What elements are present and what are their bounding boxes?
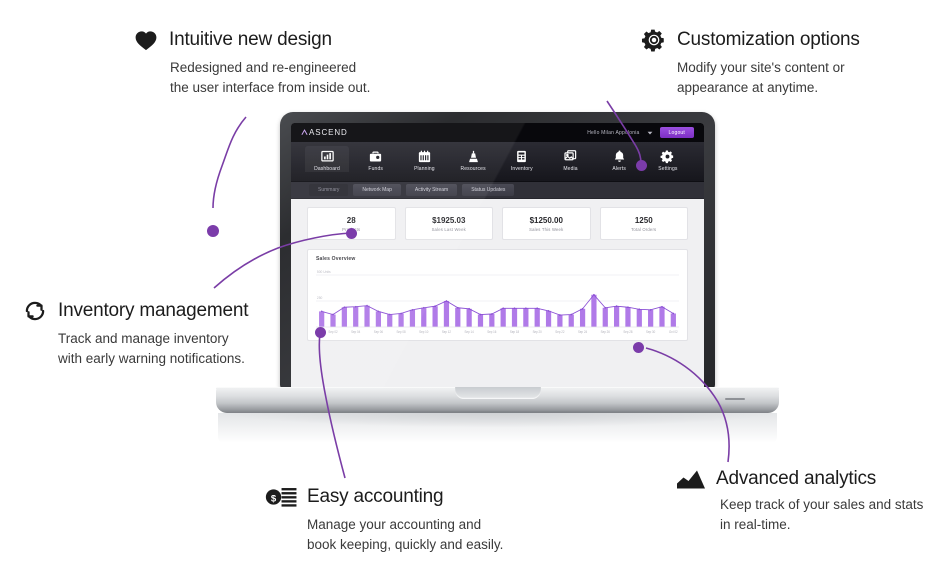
laptop-base-vent (725, 398, 745, 400)
feature-header: Customization options (641, 27, 860, 53)
tab-network-map[interactable]: Network Map (353, 184, 400, 196)
feature-title: Intuitive new design (169, 29, 332, 51)
laptop-base-notch (455, 387, 541, 399)
brand-text: ASCEND (309, 128, 348, 137)
logout-button[interactable]: Logout (660, 127, 695, 138)
nav-label: Dashboard (314, 166, 340, 172)
nav-label: Resources (460, 166, 485, 172)
stat-value: 1250 (635, 216, 653, 225)
nav-item-dashboard[interactable]: Dashboard (305, 146, 349, 172)
laptop-reflection (218, 413, 777, 443)
feature-inventory-management: Inventory management Track and manage in… (22, 298, 248, 368)
svg-text:Sep 10: Sep 10 (419, 330, 428, 334)
feature-description: Modify your site's content or appearance… (677, 58, 860, 97)
feature-intuitive-new-design: Intuitive new design Redesigned and re-e… (133, 27, 370, 97)
feature-description: Manage your accounting and book keeping,… (307, 515, 503, 554)
money-ledger-icon: $ (265, 484, 297, 510)
svg-text:Sep 02: Sep 02 (328, 330, 337, 334)
nav-item-alerts[interactable]: Alerts (597, 146, 641, 172)
svg-text:Sep 14: Sep 14 (465, 330, 474, 334)
nav-item-media[interactable]: Media (549, 146, 593, 172)
feature-easy-accounting: $ Easy accounting Manage your accounting… (265, 484, 503, 554)
gear-icon (641, 27, 667, 53)
feature-customization-options: Customization options Modify your site's… (641, 27, 860, 97)
feature-description: Keep track of your sales and stats in re… (720, 495, 923, 534)
svg-text:Sep 28: Sep 28 (623, 330, 632, 334)
stat-value: $1250.00 (530, 216, 563, 225)
svg-text:Sep 06: Sep 06 (374, 330, 383, 334)
feature-title: Customization options (677, 29, 860, 51)
feature-description: Redesigned and re-engineered the user in… (170, 58, 370, 97)
stat-card-total-orders[interactable]: 1250 Total Orders (600, 207, 689, 240)
nav-label: Funds (368, 166, 383, 172)
sales-overview-panel: Sales Overview 500 Units250Sep 02Sep 04S… (307, 249, 688, 341)
app-topbar: ASCEND Hello Milan Appolonia Logout (291, 123, 704, 142)
feature-header: Intuitive new design (133, 27, 370, 53)
sync-arrows-icon (22, 298, 48, 324)
heart-icon (133, 27, 159, 53)
svg-text:Oct 02: Oct 02 (669, 330, 678, 334)
bar-chart-up-icon (676, 468, 706, 490)
nav-label: Planning (414, 166, 435, 172)
chart-board-icon (320, 149, 335, 164)
topbar-user-area: Hello Milan Appolonia Logout (587, 127, 694, 138)
sales-chart-svg: 500 Units250Sep 02Sep 04Sep 06Sep 08Sep … (316, 269, 679, 341)
nav-label: Alerts (612, 166, 626, 172)
feature-header: Advanced analytics (676, 468, 923, 490)
feature-header: $ Easy accounting (265, 484, 503, 510)
svg-text:Sep 04: Sep 04 (351, 330, 360, 334)
connector-dot-customization (636, 160, 647, 171)
greeting-text: Hello Milan Appolonia (587, 130, 639, 136)
feature-description: Track and manage inventory with early wa… (58, 329, 248, 368)
briefcase-icon (368, 149, 383, 164)
laptop-base (216, 387, 779, 413)
ascend-mark-icon (301, 129, 308, 136)
gear-icon (660, 149, 675, 164)
laptop-mockup: ASCEND Hello Milan Appolonia Logout (216, 112, 779, 442)
feature-title: Advanced analytics (716, 468, 876, 490)
box-list-icon (514, 149, 529, 164)
svg-text:250: 250 (317, 296, 323, 300)
svg-text:500 Units: 500 Units (317, 270, 331, 274)
stat-value: 28 (347, 216, 356, 225)
calendar-icon (417, 149, 432, 164)
svg-text:Sep 24: Sep 24 (578, 330, 587, 334)
nav-label: Inventory (511, 166, 533, 172)
svg-text:Sep 12: Sep 12 (442, 330, 451, 334)
sales-chart: 500 Units250Sep 02Sep 04Sep 06Sep 08Sep … (316, 269, 679, 341)
chevron-down-icon[interactable] (647, 130, 653, 136)
svg-text:Sep 22: Sep 22 (555, 330, 564, 334)
stat-value: $1925.03 (432, 216, 465, 225)
brand-logo: ASCEND (301, 128, 348, 137)
svg-text:Sep 16: Sep 16 (487, 330, 496, 334)
svg-text:$: $ (271, 493, 277, 504)
tower-icon (466, 149, 481, 164)
feature-header: Inventory management (22, 298, 248, 324)
connector-dot-analytics (633, 342, 644, 353)
stat-label: Total Orders (631, 227, 656, 232)
nav-item-settings[interactable]: Settings (646, 146, 690, 172)
svg-text:Sep 26: Sep 26 (601, 330, 610, 334)
stat-card-sales-last-week[interactable]: $1925.03 Sales Last Week (405, 207, 494, 240)
svg-text:Sep 18: Sep 18 (510, 330, 519, 334)
stat-card-sales-this-week[interactable]: $1250.00 Sales This Week (502, 207, 591, 240)
connector-dot-inventory (346, 228, 357, 239)
svg-text:Sep 08: Sep 08 (396, 330, 405, 334)
app-sub-tabs: Summary Network Map Activity Stream Stat… (291, 182, 704, 199)
stat-label: Sales This Week (529, 227, 563, 232)
nav-item-planning[interactable]: Planning (402, 146, 446, 172)
photos-icon (563, 149, 578, 164)
nav-item-resources[interactable]: Resources (451, 146, 495, 172)
nav-item-funds[interactable]: Funds (354, 146, 398, 172)
stat-label: Sales Last Week (432, 227, 466, 232)
feature-title: Easy accounting (307, 486, 443, 508)
svg-text:Sep 30: Sep 30 (646, 330, 655, 334)
svg-text:Sep 20: Sep 20 (533, 330, 542, 334)
nav-label: Settings (658, 166, 677, 172)
tab-status-updates[interactable]: Status Updates (462, 184, 514, 196)
stat-card-row: 28 Products $1925.03 Sales Last Week $12… (307, 207, 688, 240)
tab-activity-stream[interactable]: Activity Stream (406, 184, 457, 196)
bell-icon (612, 149, 627, 164)
feature-title: Inventory management (58, 300, 248, 322)
connector-dot-accounting (315, 327, 326, 338)
nav-label: Media (563, 166, 577, 172)
connector-dot-design (207, 225, 219, 237)
tab-summary[interactable]: Summary (309, 184, 348, 196)
feature-advanced-analytics: Advanced analytics Keep track of your sa… (676, 468, 923, 534)
nav-item-inventory[interactable]: Inventory (500, 146, 544, 172)
laptop-lid: ASCEND Hello Milan Appolonia Logout (280, 112, 715, 389)
panel-title: Sales Overview (316, 256, 679, 262)
